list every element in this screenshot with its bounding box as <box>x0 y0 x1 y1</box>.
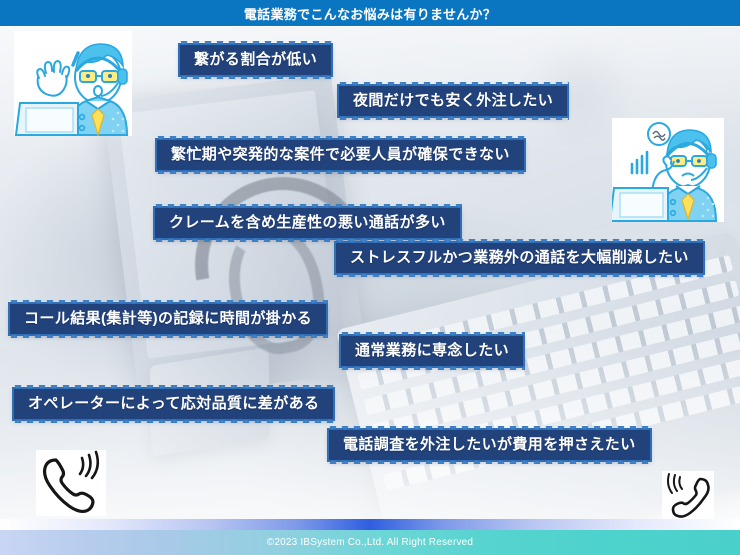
operator-troubled-illustration <box>612 118 724 222</box>
telephone-handset-small-icon <box>662 471 714 519</box>
slide-root: 電話業務でこんなお悩みは有りませんか？ <box>0 0 740 555</box>
pain-point-label: オペレーターによって応対品質に差がある <box>14 389 333 419</box>
footer-gradient-line <box>0 519 740 530</box>
operator-surprised-illustration <box>14 31 132 136</box>
pain-point-label: 繁忙期や突発的な案件で必要人員が確保できない <box>157 140 524 170</box>
header-bar: 電話業務でこんなお悩みは有りませんか？ <box>0 0 740 26</box>
pain-point-label: クレームを含め生産性の悪い通話が多い <box>155 208 460 238</box>
footer: ©2023 IBSystem Co.,Ltd. All Right Reserv… <box>0 519 740 555</box>
pain-point-label: 繋がる割合が低い <box>180 45 331 75</box>
pain-point-label: 電話調査を外注したいが費用を押さえたい <box>329 430 650 460</box>
copyright-text: ©2023 IBSystem Co.,Ltd. All Right Reserv… <box>267 537 473 548</box>
pain-point-label: 夜間だけでも安く外注したい <box>339 86 567 116</box>
pain-point-label: ストレスフルかつ業務外の通話を大幅削減したい <box>336 243 703 273</box>
telephone-handset-icon <box>36 450 106 516</box>
footer-gradient-band: ©2023 IBSystem Co.,Ltd. All Right Reserv… <box>0 530 740 555</box>
pain-point-label: 通常業務に専念したい <box>341 336 523 366</box>
page-title: 電話業務でこんなお悩みは有りませんか？ <box>244 4 496 23</box>
pain-point-label: コール結果(集計等)の記録に時間が掛かる <box>10 304 326 334</box>
